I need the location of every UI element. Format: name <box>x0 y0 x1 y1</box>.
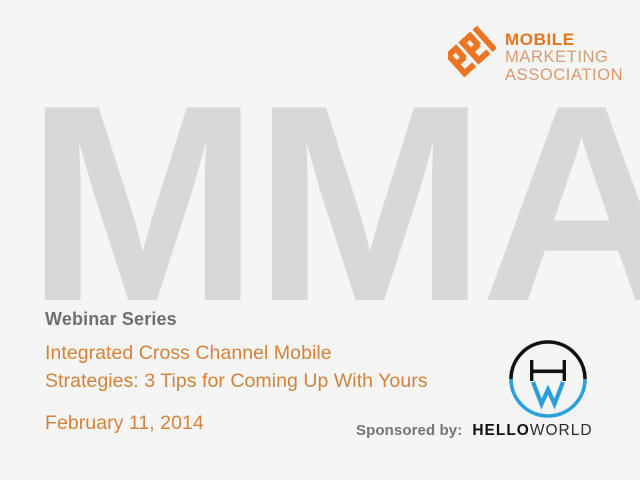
helloworld-wordmark: HELLOWORLD <box>472 422 592 440</box>
helloworld-circle-hw-icon <box>506 336 590 420</box>
brand-line-mobile: MOBILE <box>505 31 623 49</box>
brand-line-marketing: MARKETING <box>505 49 623 66</box>
eyebrow-webinar-series: Webinar Series <box>45 308 515 331</box>
helloworld-wordmark-hello: HELLO <box>472 422 530 439</box>
watermark-text: MMA <box>26 78 640 308</box>
sponsored-by-label: Sponsored by: <box>356 422 462 439</box>
helloworld-wordmark-world: WORLD <box>530 422 593 439</box>
sponsor-block: Sponsored by: HELLOWORLD <box>356 336 612 446</box>
mma-brand-wordmark: MOBILE MARKETING ASSOCIATION <box>505 26 623 84</box>
presentation-slide: MOBILE MARKETING ASSOCIATION MMA Webinar… <box>0 0 640 480</box>
brand-line-association: ASSOCIATION <box>505 67 623 84</box>
mma-watermark: MMA <box>0 78 640 308</box>
sponsored-by-row: Sponsored by: HELLOWORLD <box>356 422 612 440</box>
mma-monogram-icon <box>448 26 496 80</box>
mma-brand-logo: MOBILE MARKETING ASSOCIATION <box>448 26 623 84</box>
